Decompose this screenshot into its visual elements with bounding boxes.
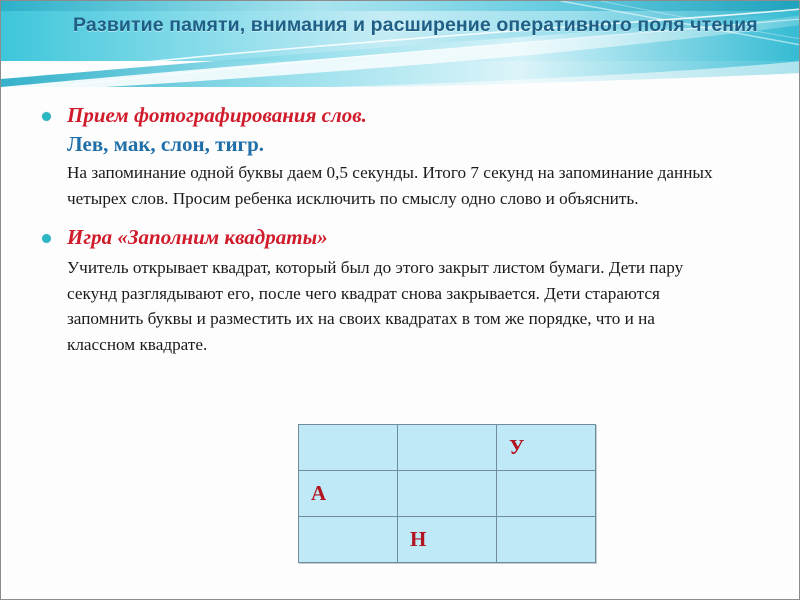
grid-cell-r1c1[interactable] — [299, 425, 398, 471]
grid-cell-r3c3[interactable] — [497, 517, 596, 563]
grid-cell-r2c3[interactable] — [497, 471, 596, 517]
table-row: Н — [299, 517, 596, 563]
letter-grid-container: У А Н — [298, 424, 596, 563]
table-row: У — [299, 425, 596, 471]
bullet-2-heading-red: Игра «Заполним квадраты» — [67, 223, 765, 251]
grid-cell-r2c2[interactable] — [398, 471, 497, 517]
letter-grid: У А Н — [298, 424, 596, 563]
bullet-1-heading-blue: Лев, мак, слон, тигр. — [67, 129, 765, 159]
bullet-block-1: Прием фотографирования слов. Лев, мак, с… — [1, 101, 800, 211]
bullet-1-paragraph: На запоминание одной буквы даем 0,5 секу… — [67, 160, 727, 211]
bullet-block-2: Игра «Заполним квадраты» Учитель открыва… — [1, 223, 800, 357]
header-banner: Развитие памяти, внимания и расширение о… — [1, 1, 800, 93]
table-row: А — [299, 471, 596, 517]
bullet-dot-icon — [42, 112, 51, 121]
grid-cell-r1c2[interactable] — [398, 425, 497, 471]
page-title: Развитие памяти, внимания и расширение о… — [73, 11, 773, 39]
grid-cell-r1c3[interactable]: У — [497, 425, 596, 471]
grid-cell-r3c2[interactable]: Н — [398, 517, 497, 563]
bullet-dot-icon — [42, 234, 51, 243]
grid-cell-r3c1[interactable] — [299, 517, 398, 563]
presentation-slide: Развитие памяти, внимания и расширение о… — [0, 0, 800, 600]
bullet-2-paragraph: Учитель открывает квадрат, который был д… — [67, 255, 727, 357]
bullet-1-heading-red: Прием фотографирования слов. — [67, 101, 765, 129]
grid-cell-r2c1[interactable]: А — [299, 471, 398, 517]
slide-body: Прием фотографирования слов. Лев, мак, с… — [1, 97, 800, 357]
